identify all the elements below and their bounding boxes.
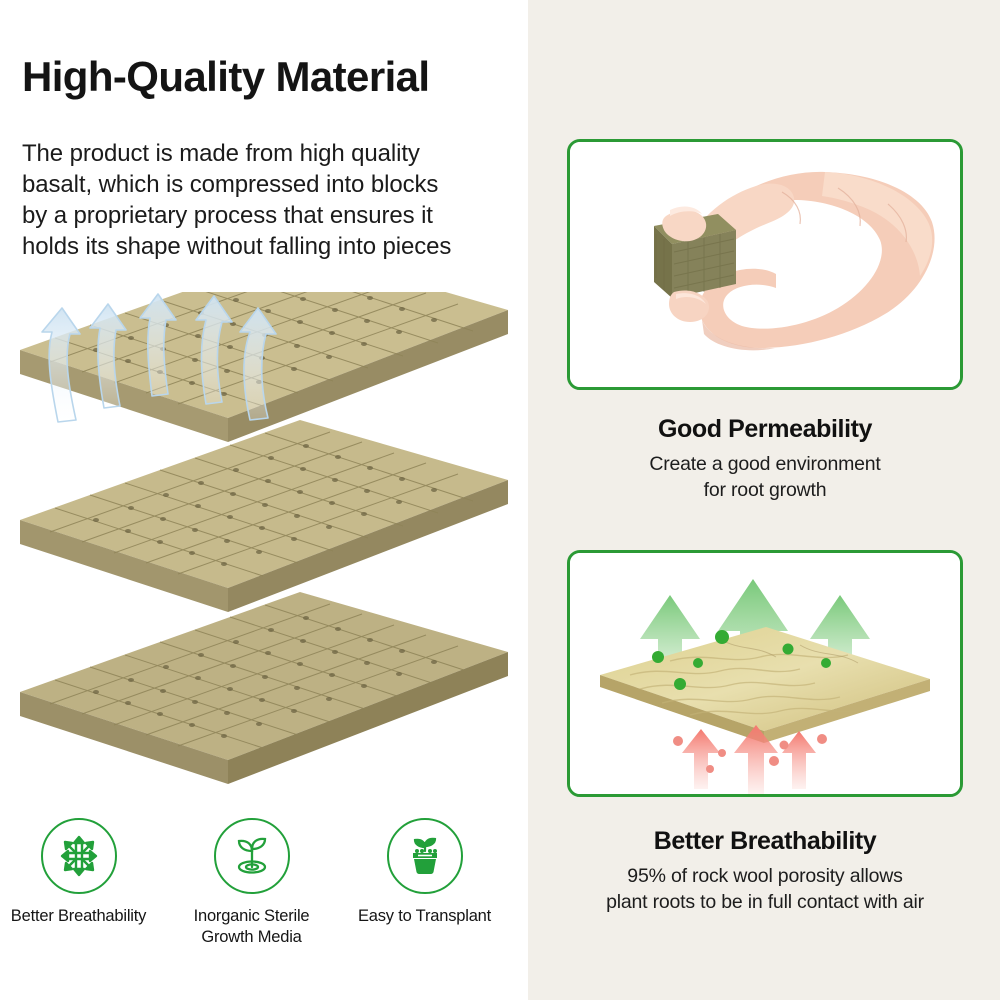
card-better-breathability-image bbox=[567, 550, 963, 797]
feature-inorganic-sterile-growth-media[interactable]: Inorganic Sterile Growth Media bbox=[165, 818, 338, 948]
feature-easy-to-transplant[interactable]: Easy to Transplant bbox=[338, 818, 511, 927]
sprout-in-soil-icon bbox=[227, 831, 277, 881]
feature-icon-ring bbox=[41, 818, 117, 894]
intro-line-4: holds its shape without falling into pie… bbox=[22, 231, 522, 262]
card-subtitle: Create a good environment for root growt… bbox=[540, 451, 990, 503]
card-title: Better Breathability bbox=[540, 827, 990, 856]
card-title: Good Permeability bbox=[540, 415, 990, 444]
intro-paragraph: The product is made from high quality ba… bbox=[22, 138, 522, 262]
caption-good-permeability: Good Permeability Create a good environm… bbox=[540, 415, 990, 503]
slab-top bbox=[20, 292, 508, 442]
intro-line-2: basalt, which is compressed into blocks bbox=[22, 169, 522, 200]
page-title: High-Quality Material bbox=[22, 55, 512, 99]
feature-better-breathability[interactable]: Better Breathability bbox=[0, 818, 165, 927]
slab-bottom bbox=[20, 592, 508, 784]
potted-plant-icon bbox=[400, 831, 450, 881]
feature-label: Easy to Transplant bbox=[358, 906, 491, 927]
feature-icon-ring bbox=[387, 818, 463, 894]
infographic-root: High-Quality Material The product is mad… bbox=[0, 0, 1000, 1000]
card-subtitle: 95% of rock wool porosity allows plant r… bbox=[540, 863, 990, 915]
caption-better-breathability: Better Breathability 95% of rock wool po… bbox=[540, 827, 990, 915]
slab-middle bbox=[20, 420, 508, 612]
intro-line-3: by a proprietary process that ensures it bbox=[22, 200, 522, 231]
feature-icon-ring bbox=[214, 818, 290, 894]
feature-badges: Better Breathability Inorganic Sterile G bbox=[0, 818, 512, 968]
card-good-permeability-image bbox=[567, 139, 963, 390]
intro-line-1: The product is made from high quality bbox=[22, 138, 522, 169]
product-photo-rockwool-slabs bbox=[0, 292, 528, 802]
feature-label: Inorganic Sterile Growth Media bbox=[194, 906, 310, 948]
airflow-through-slab-diagram bbox=[570, 553, 960, 794]
multi-direction-arrows-icon bbox=[54, 831, 104, 881]
hand-holding-rockwool-cube-photo bbox=[570, 142, 960, 387]
feature-label: Better Breathability bbox=[11, 906, 146, 927]
red-up-arrows bbox=[682, 725, 816, 794]
